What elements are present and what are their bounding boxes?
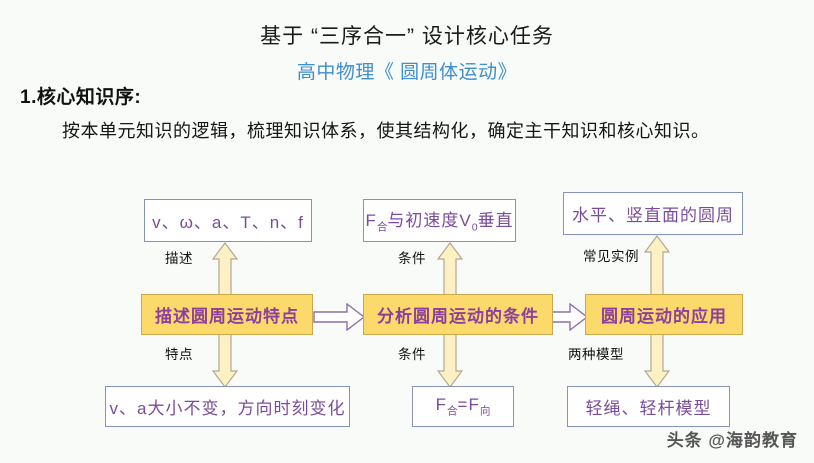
node-bottom-conditions-label-prefix: F (436, 395, 447, 414)
node-bottom-conditions-label-mid: =F (458, 395, 480, 414)
arrow-down-applications (644, 334, 670, 388)
node-top-conditions[interactable]: F合与初速度V0垂直 (363, 199, 516, 242)
node-bottom-characteristics-label: v、a大小不变，方向时刻变化 (110, 394, 346, 419)
watermark: 头条 @海韵教育 (667, 426, 798, 451)
node-top-applications-label: 水平、竖直面的圆周 (572, 201, 734, 226)
node-bottom-characteristics[interactable]: v、a大小不变，方向时刻变化 (105, 386, 350, 427)
node-bottom-conditions[interactable]: F合=F向 (412, 386, 514, 427)
node-top-characteristics-label: v、ω、a、T、n、f (152, 208, 304, 233)
edge-label-condition-top: 条件 (398, 247, 426, 267)
arrow-right-characteristics-to-conditions (313, 303, 365, 331)
edge-label-common-examples: 常见实例 (583, 245, 639, 265)
node-bottom-conditions-label-sub2: 向 (480, 405, 491, 417)
node-top-conditions-label-mid: 与初速度V (387, 211, 471, 230)
node-middle-applications[interactable]: 圆周运动的应用 (585, 294, 743, 335)
node-top-conditions-label-sub1: 合 (377, 222, 388, 234)
node-top-conditions-label-suffix: 垂直 (478, 211, 514, 230)
node-bottom-applications-label: 轻绳、轻杆模型 (586, 394, 712, 419)
node-top-conditions-label-prefix: F (365, 211, 376, 230)
arrow-up-conditions (437, 242, 463, 298)
edge-label-describe: 描述 (165, 247, 193, 267)
node-middle-conditions[interactable]: 分析圆周运动的条件 (363, 294, 553, 335)
node-middle-conditions-label: 分析圆周运动的条件 (377, 302, 539, 327)
arrow-down-characteristics (212, 334, 238, 388)
node-bottom-applications[interactable]: 轻绳、轻杆模型 (567, 386, 730, 427)
arrow-up-characteristics (212, 242, 238, 298)
node-top-characteristics[interactable]: v、ω、a、T、n、f (144, 199, 312, 242)
slide-canvas: 基于 “三序合一” 设计核心任务 高中物理《 圆周体运动》 1.核心知识序: 按… (0, 0, 814, 463)
flowchart-diagram: v、ω、a、T、n、f 描述 描述圆周运动特点 特点 v、a大小不变，方向时刻变… (0, 0, 814, 463)
node-middle-applications-label: 圆周运动的应用 (601, 302, 727, 327)
arrow-down-conditions (437, 334, 463, 388)
edge-label-two-models: 两种模型 (568, 343, 624, 363)
edge-label-feature: 特点 (165, 343, 193, 363)
node-bottom-conditions-label-sub1: 合 (447, 405, 458, 417)
arrow-up-applications (644, 235, 670, 298)
node-top-applications[interactable]: 水平、竖直面的圆周 (563, 192, 743, 235)
node-middle-characteristics-label: 描述圆周运动特点 (155, 302, 299, 327)
edge-label-condition-bottom: 条件 (398, 343, 426, 363)
node-top-conditions-label: F合与初速度V0垂直 (365, 206, 513, 234)
node-middle-characteristics[interactable]: 描述圆周运动特点 (141, 294, 313, 335)
node-bottom-conditions-label: F合=F向 (436, 395, 491, 418)
